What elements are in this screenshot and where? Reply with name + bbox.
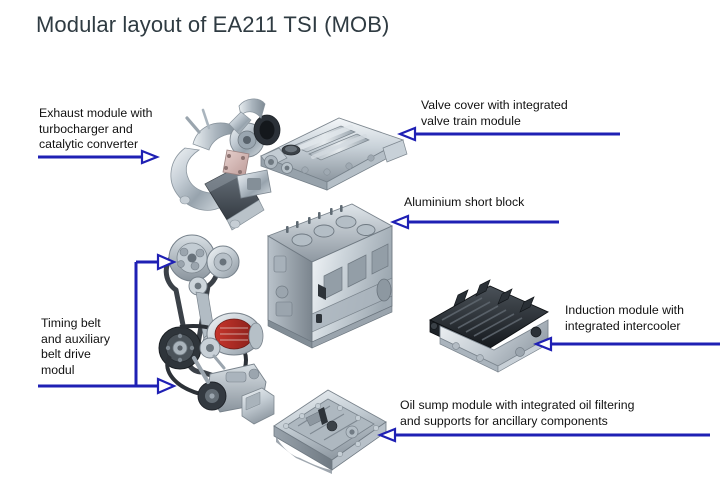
callout-arrow-induction-module — [534, 337, 720, 351]
callout-label-oil-sump: Oil sump module with integrated oil filt… — [400, 398, 700, 429]
callout-label-valve-cover: Valve cover with integrated valve train … — [421, 98, 621, 129]
callout-label-exhaust-module: Exhaust module with turbocharger and cat… — [39, 106, 204, 153]
slide-canvas: Modular layout of EA211 TSI (MOB) — [0, 0, 720, 480]
part-oil-sump-assembly — [240, 382, 392, 474]
part-induction-module-assembly — [424, 276, 559, 376]
callout-arrow-exhaust-module — [38, 150, 158, 164]
callout-arrow-oil-sump — [378, 428, 710, 442]
callout-arrow-timing-belt — [36, 252, 181, 394]
callout-label-induction-module: Induction module with integrated interco… — [565, 303, 720, 334]
callout-label-short-block: Aluminium short block — [404, 195, 624, 211]
callout-arrow-valve-cover — [398, 127, 620, 141]
part-valve-cover-assembly — [247, 110, 412, 195]
callout-arrow-short-block — [391, 215, 559, 229]
page-title: Modular layout of EA211 TSI (MOB) — [36, 12, 389, 38]
